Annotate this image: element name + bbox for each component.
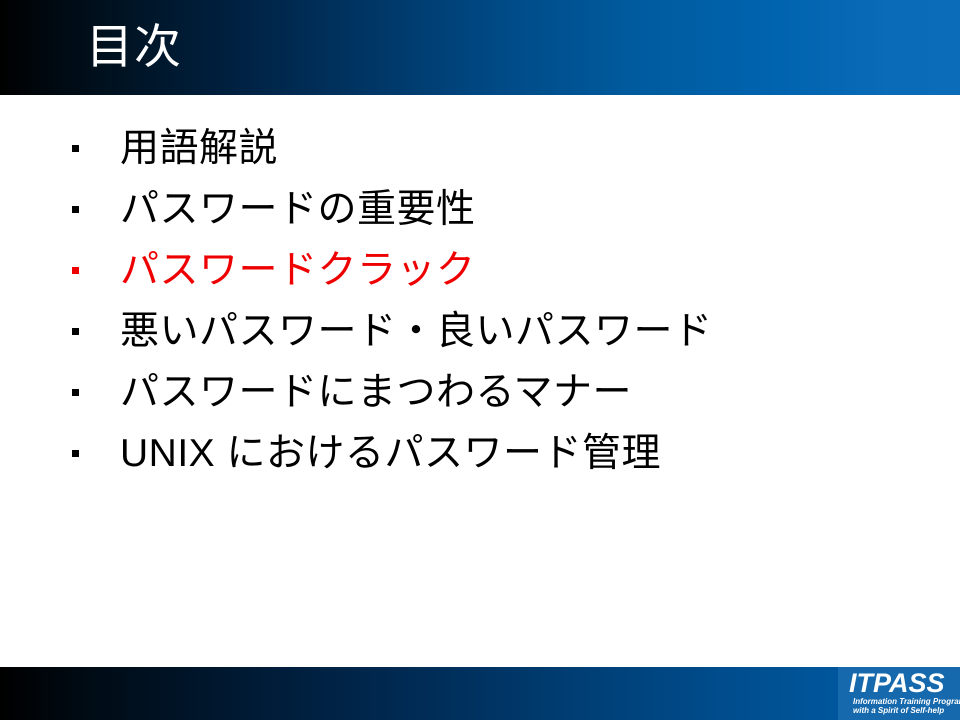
square-bullet-icon [72,450,79,457]
table-of-contents-list: 用語解説 パスワードの重要性 パスワードクラック 悪いパスワード・良いパスワード… [72,118,932,484]
list-item-current[interactable]: パスワードクラック [72,240,932,301]
list-item-label: パスワードクラック [120,248,476,294]
list-item-label: 悪いパスワード・良いパスワード [120,309,713,355]
square-bullet-icon [72,328,79,335]
slide-header-band: 目次 [0,0,960,95]
square-bullet-icon [72,389,79,396]
itpass-logo-tagline-line2: with a Spirit of Self-help [853,706,944,716]
square-bullet-icon [72,206,79,213]
list-item-label: 用語解説 [120,126,278,172]
list-item[interactable]: 悪いパスワード・良いパスワード [72,301,932,362]
list-item-label: パスワードの重要性 [120,187,476,233]
list-item-label: パスワードにまつわるマナー [120,370,632,416]
slide: 目次 用語解説 パスワードの重要性 パスワードクラック 悪いパスワード・良いパス… [0,0,960,720]
list-item-label: UNIX におけるパスワード管理 [120,431,661,477]
list-item[interactable]: パスワードにまつわるマナー [72,362,932,423]
itpass-logo: ITPASS Information Training Program with… [838,667,960,720]
square-bullet-icon [72,145,79,152]
slide-footer-band [0,667,960,720]
list-item[interactable]: 用語解説 [72,118,932,179]
list-item[interactable]: UNIX におけるパスワード管理 [72,423,932,484]
list-item[interactable]: パスワードの重要性 [72,179,932,240]
square-bullet-icon [72,267,79,274]
page-title: 目次 [86,16,182,78]
itpass-logo-wordmark: ITPASS [849,669,945,697]
slide-body: 用語解説 パスワードの重要性 パスワードクラック 悪いパスワード・良いパスワード… [0,95,960,667]
